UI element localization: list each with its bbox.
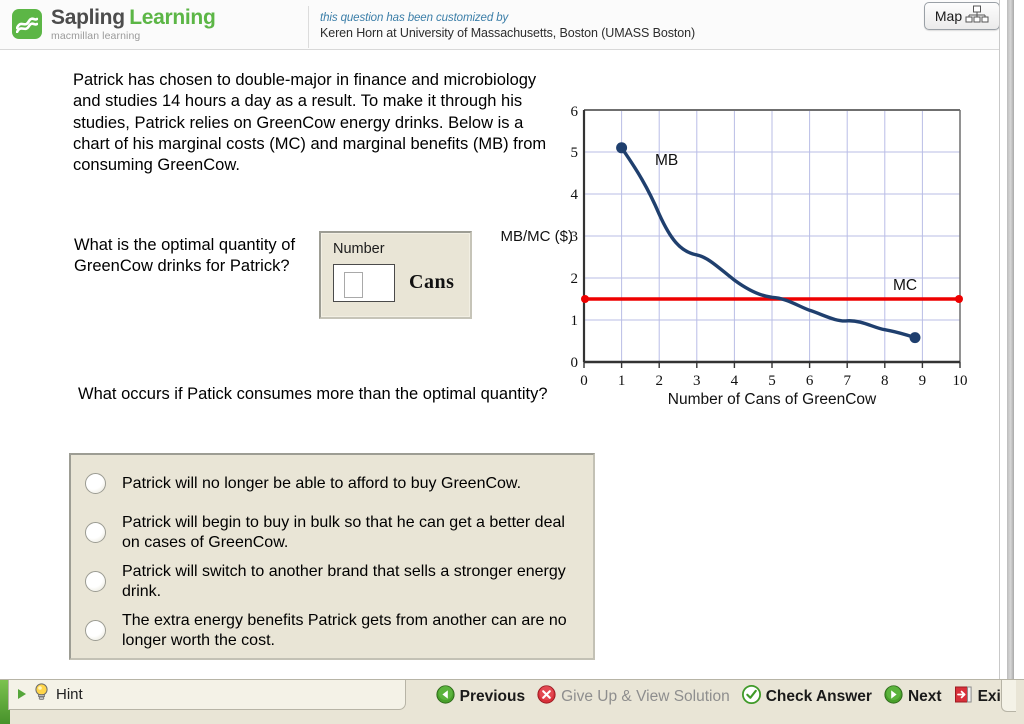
window-scroll-track[interactable]	[1007, 0, 1014, 724]
exit-button[interactable]: Exit	[954, 685, 1006, 709]
check-answer-label: Check Answer	[766, 688, 872, 706]
svg-text:0: 0	[580, 373, 588, 389]
logo-wordmark: Sapling Learning macmillan learning	[51, 6, 215, 42]
choice-option-2[interactable]: Patrick will begin to buy in bulk so tha…	[71, 508, 593, 557]
lightbulb-icon	[34, 683, 49, 706]
next-label: Next	[908, 688, 942, 706]
next-button[interactable]: Next	[884, 685, 942, 709]
chart-x-axis-title: Number of Cans of GreenCow	[668, 391, 877, 405]
choice-label-3: Patrick will switch to another brand tha…	[122, 562, 583, 602]
sapling-leaf-icon	[12, 9, 42, 39]
chart-y-axis-title: MB/MC ($)	[501, 228, 574, 245]
back-arrow-icon	[436, 685, 455, 709]
radio-button-4[interactable]	[85, 620, 106, 641]
toolbar-right-tab	[1001, 680, 1016, 712]
red-x-icon	[537, 685, 556, 709]
give-up-label: Give Up & View Solution	[561, 688, 730, 706]
choice-label-1: Patrick will no longer be able to afford…	[122, 474, 521, 494]
svg-text:10: 10	[953, 373, 968, 389]
choice-label-4: The extra energy benefits Patrick gets f…	[122, 611, 583, 651]
forward-arrow-icon	[884, 685, 903, 709]
text-caret-placeholder	[344, 272, 363, 298]
choice-option-4[interactable]: The extra energy benefits Patrick gets f…	[71, 606, 593, 655]
svg-text:1: 1	[618, 373, 626, 389]
customization-notice-line2: Keren Horn at University of Massachusett…	[320, 26, 992, 40]
svg-text:4: 4	[731, 373, 739, 389]
numeric-answer-label: Number	[333, 241, 385, 257]
exit-door-icon	[954, 685, 973, 709]
chart-xtick-labels: 0 1 2 3 4 5 6 7 8 9 10	[580, 373, 967, 389]
logo-word-sapling: Sapling	[51, 6, 125, 29]
numeric-answer-box: Number Cans	[319, 231, 472, 319]
hint-button[interactable]: Hint	[8, 680, 406, 710]
choice-label-2: Patrick will begin to buy in bulk so tha…	[122, 513, 583, 553]
svg-text:2: 2	[655, 373, 663, 389]
sapling-question-page: Sapling Learning macmillan learning this…	[0, 0, 1024, 724]
svg-text:6: 6	[806, 373, 814, 389]
previous-label: Previous	[460, 688, 525, 706]
svg-text:0: 0	[571, 355, 579, 371]
bottom-toolbar: Hint Previous	[0, 679, 1024, 724]
map-button[interactable]: Map	[924, 2, 1000, 30]
check-answer-button[interactable]: Check Answer	[742, 685, 872, 709]
question-two-text: What occurs if Patick consumes more than…	[78, 384, 548, 405]
choice-option-1[interactable]: Patrick will no longer be able to afford…	[71, 459, 593, 508]
customization-notice: this question has been customized by Ker…	[320, 12, 992, 46]
previous-button[interactable]: Previous	[436, 685, 525, 709]
radio-button-3[interactable]	[85, 571, 106, 592]
mc-annotation-label: MC	[893, 277, 917, 294]
hint-label: Hint	[56, 686, 83, 703]
arrow-right-icon	[18, 686, 27, 704]
green-check-icon	[742, 685, 761, 709]
svg-text:6: 6	[571, 104, 579, 120]
give-up-button[interactable]: Give Up & View Solution	[537, 685, 730, 709]
toolbar-actions: Previous Give Up & View Solution	[436, 683, 1006, 710]
map-button-label: Map	[935, 8, 962, 24]
mb-annotation-label: MB	[655, 152, 678, 169]
numeric-answer-unit: Cans	[409, 271, 454, 294]
customization-notice-line1: this question has been customized by	[320, 12, 992, 24]
svg-text:2: 2	[571, 271, 579, 287]
logo-word-learning: Learning	[129, 6, 215, 29]
radio-button-1[interactable]	[85, 473, 106, 494]
numeric-answer-input[interactable]	[333, 264, 395, 302]
svg-text:5: 5	[768, 373, 776, 389]
question-one-text: What is the optimal quantity of GreenCow…	[74, 235, 304, 278]
mb-mc-chart: 0 1 2 3 4 5 6 0 1 2 3 4 5 6 7 8 9 10	[480, 100, 980, 405]
multiple-choice-group: Patrick will no longer be able to afford…	[69, 453, 595, 660]
svg-text:4: 4	[571, 187, 579, 203]
right-window-frame	[999, 0, 1024, 724]
svg-text:8: 8	[881, 373, 889, 389]
page-header: Sapling Learning macmillan learning this…	[0, 0, 1000, 50]
svg-text:5: 5	[571, 145, 579, 161]
radio-button-2[interactable]	[85, 522, 106, 543]
svg-text:7: 7	[843, 373, 851, 389]
sapling-logo: Sapling Learning macmillan learning	[12, 6, 309, 48]
hierarchy-map-icon	[965, 5, 989, 28]
svg-text:1: 1	[571, 313, 579, 329]
logo-subtitle: macmillan learning	[51, 31, 215, 42]
choice-option-3[interactable]: Patrick will switch to another brand tha…	[71, 557, 593, 606]
svg-text:3: 3	[693, 373, 701, 389]
svg-text:9: 9	[919, 373, 927, 389]
